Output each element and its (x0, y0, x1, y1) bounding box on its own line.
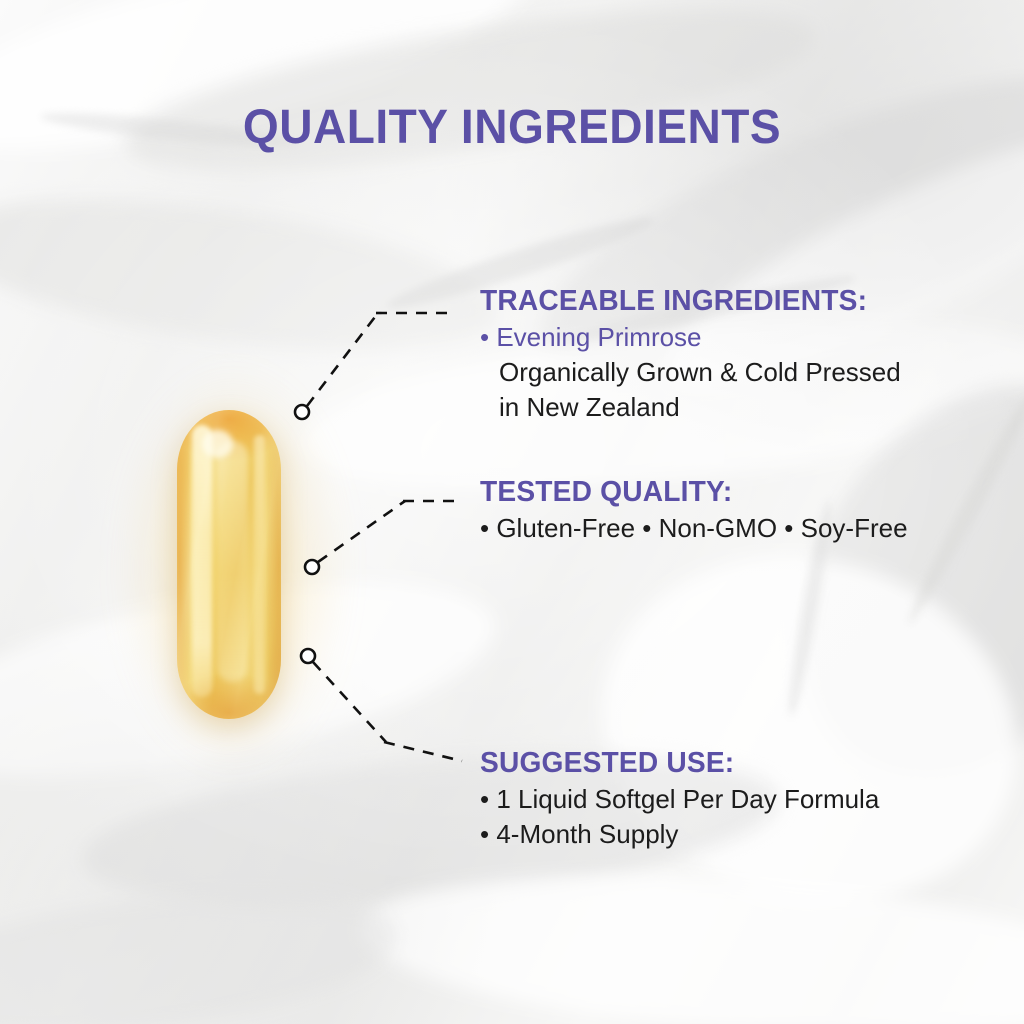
connector-line-suggested-diagonal (313, 662, 386, 742)
connector-node-tested (305, 560, 319, 574)
connector-line-suggested-tail (384, 742, 462, 761)
connector-node-suggested (301, 649, 315, 663)
callout-traceable-ingredients: TRACEABLE INGREDIENTS: • Evening Primros… (480, 286, 901, 425)
callout-line: • 1 Liquid Softgel Per Day Formula (480, 782, 879, 817)
connector-line-traceable-diagonal (307, 313, 378, 406)
callout-tested-quality: TESTED QUALITY: • Gluten-Free • Non-GMO … (480, 477, 908, 546)
callout-heading: TESTED QUALITY: (480, 477, 895, 507)
callout-line: Organically Grown & Cold Pressed (480, 355, 901, 390)
quality-ingredients-infographic: QUALITY INGREDIENTS TRACEABLE INGREDIENT… (0, 0, 1024, 1024)
callout-suggested-use: SUGGESTED USE: • 1 Liquid Softgel Per Da… (480, 748, 879, 852)
callout-line: • 4-Month Supply (480, 817, 879, 852)
callout-heading: SUGGESTED USE: (480, 748, 867, 778)
callout-line: in New Zealand (480, 390, 901, 425)
connector-line-tested-diagonal (318, 501, 405, 562)
callout-heading: TRACEABLE INGREDIENTS: (480, 286, 888, 316)
callout-line: • Gluten-Free • Non-GMO • Soy-Free (480, 511, 908, 546)
callout-line: • Evening Primrose (480, 320, 901, 355)
connector-node-traceable (295, 405, 309, 419)
